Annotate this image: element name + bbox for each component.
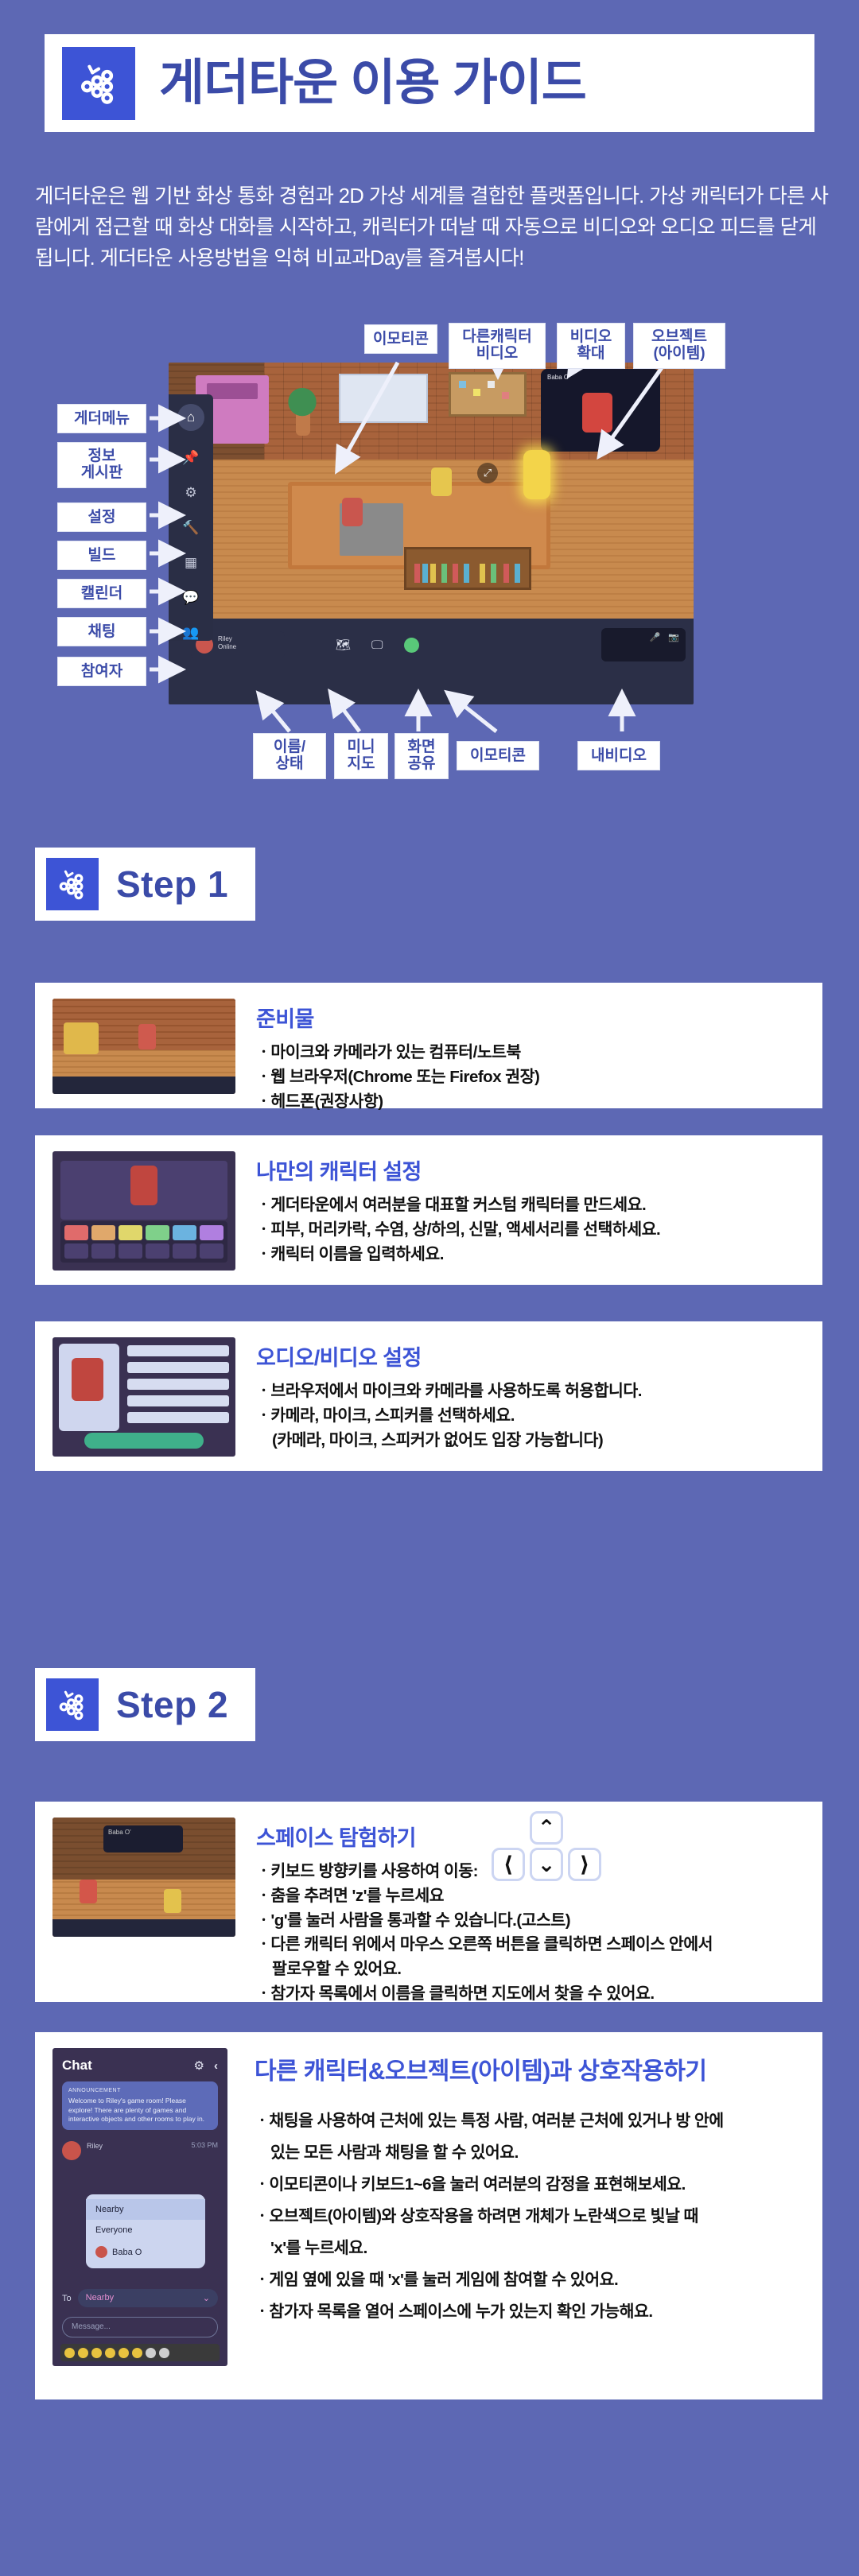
bottom-toolbar: 🗺 🖵 xyxy=(325,631,476,658)
card-audio-video-setup: 오디오/비디오 설정 ㆍ브라우저에서 마이크와 카메라를 사용하도록 허용합니다… xyxy=(35,1321,822,1471)
callout-chat: 채팅 xyxy=(57,617,146,646)
grape-cluster-logo-icon xyxy=(62,47,135,120)
bullet: ㆍ오브젝트(아이템)와 상호작용을 하려면 개체가 노란색으로 빛날 때 xyxy=(255,2201,724,2233)
bullet: 'x'를 누르세요. xyxy=(255,2233,724,2264)
intro-paragraph: 게더타운은 웹 기반 화상 통화 경험과 2D 가상 세계를 결합한 플랫폼입니… xyxy=(35,181,830,274)
card-preparation: 준비물 ㆍ마이크와 카메라가 있는 컴퓨터/노트북 ㆍ웹 브라우저(Chrome… xyxy=(35,983,822,1108)
card-title: 오디오/비디오 설정 xyxy=(256,1340,642,1371)
chat-panel-thumbnail: Chat ⚙ ‹ ANNOUNCEMENT Welcome to Riley's… xyxy=(52,2048,227,2366)
callout-video-expand: 비디오 확대 xyxy=(557,323,625,369)
bookshelf-object xyxy=(404,547,531,590)
other-character xyxy=(431,467,452,496)
dropdown-option-nearby[interactable]: Nearby xyxy=(86,2199,205,2220)
my-name: Riley xyxy=(218,635,232,642)
hero-title-bar: 게더타운 이용 가이드 xyxy=(45,34,814,132)
bullet: ㆍ춤을 추려면 'z'를 누르세요 xyxy=(256,1884,713,1909)
emoticon-icon[interactable] xyxy=(404,638,419,653)
preparation-thumbnail xyxy=(52,999,235,1094)
step-2-badge: Step 2 xyxy=(35,1668,255,1741)
card-title: 다른 캐릭터&오브젝트(아이템)과 상호작용하기 xyxy=(255,2051,724,2086)
bullet: ㆍ피부, 머리카락, 수염, 상/하의, 신말, 액세서리를 선택하세요. xyxy=(256,1218,660,1243)
callout-participants: 참여자 xyxy=(57,657,146,686)
home-icon[interactable]: ⌂ xyxy=(177,404,204,431)
other-player-avatar xyxy=(582,393,612,433)
chat-message: Riley 5:03 PM xyxy=(62,2141,218,2160)
calendar-icon[interactable]: ▦ xyxy=(185,555,197,571)
card-bullets: ㆍ키보드 방향키를 사용하여 이동: ㆍ춤을 추려면 'z'를 누르세요 ㆍ'g… xyxy=(256,1860,713,2007)
card-title: 스페이스 탐험하기 xyxy=(256,1821,713,1852)
bullet: ㆍ채팅을 사용하여 근처에 있는 특정 사람, 여러분 근처에 있거나 방 안에 xyxy=(255,2105,724,2137)
gear-icon[interactable]: ⚙ xyxy=(194,2058,204,2073)
callout-settings: 설정 xyxy=(57,502,146,532)
card-title: 나만의 캐릭터 설정 xyxy=(256,1154,660,1185)
chevron-down-icon: ⌄ xyxy=(203,2293,210,2303)
explore-space-thumbnail: Baba O' xyxy=(52,1818,235,1937)
message-time: 5:03 PM xyxy=(191,2141,218,2149)
callout-emoticon: 이모티콘 xyxy=(364,324,437,354)
card-bullets: ㆍ마이크와 카메라가 있는 컴퓨터/노트북 ㆍ웹 브라우저(Chrome 또는 … xyxy=(256,1041,539,1114)
bullet: ㆍ이모티콘이나 키보드1~6을 눌러 여러분의 감정을 표현해보세요. xyxy=(255,2169,724,2201)
avatar xyxy=(95,2246,107,2258)
callout-my-video: 내비디오 xyxy=(577,741,660,770)
bullet: ㆍ다른 캐릭터 위에서 마우스 오른쪽 버튼을 클릭하면 스페이스 안에서 xyxy=(256,1933,713,1957)
player-character xyxy=(342,498,363,526)
bullet: ㆍ참가자 목록을 열어 스페이스에 누가 있는지 확인 가능해요. xyxy=(255,2296,724,2328)
annotated-screenshot-diagram: Baba O' ⤢ Riley Online 🗺 🖵 🎤 📷 xyxy=(76,324,784,784)
bullet: (카메라, 마이크, 스피커가 없어도 입장 가능합니다) xyxy=(256,1429,642,1453)
callout-calendar: 캘린더 xyxy=(57,579,146,608)
arrow-up-key[interactable]: ⌃ xyxy=(530,1811,563,1845)
highlighted-object-item[interactable] xyxy=(523,450,550,499)
emoji-bar[interactable] xyxy=(60,2344,220,2361)
mic-off-icon[interactable]: 🎤 xyxy=(650,632,661,642)
dropdown-option-everyone[interactable]: Everyone xyxy=(86,2220,205,2240)
bullet: ㆍ게임 옆에 있을 때 'x'를 눌러 게임에 참여할 수 있어요. xyxy=(255,2264,724,2296)
avatar xyxy=(62,2141,81,2160)
announcement-tag: ANNOUNCEMENT xyxy=(68,2087,212,2094)
arrow-right-key[interactable]: ⟩ xyxy=(568,1848,601,1881)
bullet: ㆍ키보드 방향키를 사용하여 이동: xyxy=(256,1860,713,1884)
callout-info-board: 정보 게시판 xyxy=(57,442,146,488)
step-1-label: Step 1 xyxy=(116,863,228,906)
card-explore-space: Baba O' 스페이스 탐험하기 ㆍ키보드 방향키를 사용하여 이동: ㆍ춤을… xyxy=(35,1802,822,2002)
message-input[interactable]: Message... xyxy=(62,2317,218,2337)
gather-sidebar: ⌂ 📌 ⚙ 🔨 ▦ 💬 👥 xyxy=(169,394,213,641)
to-label: To xyxy=(62,2294,72,2303)
callout-mini-map: 미니 지도 xyxy=(334,733,388,779)
whiteboard-object xyxy=(339,374,428,423)
card-bullets: ㆍ브라우저에서 마이크와 카메라를 사용하도록 허용합니다. ㆍ카메라, 마이크… xyxy=(256,1379,642,1453)
card-interact: Chat ⚙ ‹ ANNOUNCEMENT Welcome to Riley's… xyxy=(35,2032,822,2399)
recipient-selector[interactable]: To Nearby ⌄ xyxy=(62,2289,218,2307)
step-2-label: Step 2 xyxy=(116,1683,228,1726)
message-sender: Riley xyxy=(87,2141,103,2151)
grape-cluster-logo-icon xyxy=(46,858,99,910)
other-character-video-tile[interactable]: Baba O' xyxy=(541,369,660,452)
card-bullets: ㆍ게더타운에서 여러분을 대표할 커스텀 캐릭터를 만드세요. ㆍ피부, 머리카… xyxy=(256,1193,660,1267)
other-player-name: Baba O' xyxy=(547,374,570,381)
bullet: ㆍ마이크와 카메라가 있는 컴퓨터/노트북 xyxy=(256,1041,539,1065)
gear-icon[interactable]: ⚙ xyxy=(185,485,196,501)
callout-screen-share: 화면 공유 xyxy=(395,733,449,779)
screen-share-icon[interactable]: 🖵 xyxy=(371,638,383,652)
grape-cluster-logo-icon xyxy=(46,1678,99,1731)
bullet: ㆍ브라우저에서 마이크와 카메라를 사용하도록 허용합니다. xyxy=(256,1379,642,1404)
card-character-setup: 나만의 캐릭터 설정 ㆍ게더타운에서 여러분을 대표할 커스텀 캐릭터를 만드세… xyxy=(35,1135,822,1285)
camera-off-icon[interactable]: 📷 xyxy=(668,632,679,642)
bullet: ㆍ참가자 목록에서 이름을 클릭하면 지도에서 찾을 수 있어요. xyxy=(256,1982,713,2007)
bullet: ㆍ게더타운에서 여러분을 대표할 커스텀 캐릭터를 만드세요. xyxy=(256,1193,660,1218)
callout-emoticon-bottom: 이모티콘 xyxy=(457,741,539,770)
page-title: 게더타운 이용 가이드 xyxy=(159,59,586,108)
callout-name-status: 이름/ 상태 xyxy=(253,733,326,779)
hammer-icon[interactable]: 🔨 xyxy=(182,520,199,536)
video-expand-icon[interactable]: ⤢ xyxy=(477,463,498,483)
audio-video-setup-thumbnail xyxy=(52,1337,235,1457)
step-1-badge: Step 1 xyxy=(35,848,255,921)
dropdown-option-baba[interactable]: Baba O xyxy=(86,2240,205,2264)
arrow-down-key[interactable]: ⌄ xyxy=(530,1848,563,1881)
bullet: ㆍ카메라, 마이크, 스피커를 선택하세요. xyxy=(256,1404,642,1429)
guide-page: 게더타운 이용 가이드 게더타운은 웹 기반 화상 통화 경험과 2D 가상 세… xyxy=(0,0,859,2576)
chat-header: Chat ⚙ ‹ xyxy=(62,2058,218,2074)
announcement-text: Welcome to Riley's game room! Please exp… xyxy=(68,2097,204,2123)
recipient-dropdown[interactable]: Nearby Everyone Baba O xyxy=(86,2194,205,2268)
bullet: ㆍ헤드폰(권장사항) xyxy=(256,1090,539,1115)
announcement-message: ANNOUNCEMENT Welcome to Riley's game roo… xyxy=(62,2081,218,2130)
chevron-left-icon[interactable]: ‹ xyxy=(214,2059,218,2073)
gather-town-screenshot: Baba O' ⤢ Riley Online 🗺 🖵 🎤 📷 xyxy=(169,363,694,704)
bullet: 팔로우할 수 있어요. xyxy=(256,1957,713,1982)
people-icon[interactable]: 👥 xyxy=(182,625,199,641)
character-setup-thumbnail xyxy=(52,1151,235,1271)
bullet: ㆍ'g'를 눌러 사람을 통과할 수 있습니다.(고스트) xyxy=(256,1909,713,1934)
callout-gather-menu: 게더메뉴 xyxy=(57,404,146,433)
chat-bubble-icon[interactable]: 💬 xyxy=(182,590,199,606)
my-video-widget[interactable]: 🎤 📷 xyxy=(601,628,686,661)
chat-title: Chat xyxy=(62,2058,92,2074)
to-value-pill[interactable]: Nearby ⌄ xyxy=(78,2289,218,2307)
bullet: 있는 모든 사람과 채팅을 할 수 있어요. xyxy=(255,2137,724,2169)
pin-icon[interactable]: 📌 xyxy=(182,450,199,466)
arrow-left-key[interactable]: ⟨ xyxy=(492,1848,525,1881)
arrow-keys-widget: ⌃ ⟨ ⌄ ⟩ xyxy=(488,1811,608,1887)
callout-other-character-video: 다른캐릭터 비디오 xyxy=(449,323,546,369)
bullet: ㆍ캐릭터 이름을 입력하세요. xyxy=(256,1243,660,1267)
corkboard-object xyxy=(449,372,527,417)
my-status: Online xyxy=(218,643,236,650)
bullet: ㆍ웹 브라우저(Chrome 또는 Firefox 권장) xyxy=(256,1065,539,1090)
mini-map-icon[interactable]: 🗺 xyxy=(336,638,351,652)
card-bullets: ㆍ채팅을 사용하여 근처에 있는 특정 사람, 여러분 근처에 있거나 방 안에… xyxy=(255,2105,724,2328)
callout-object-item: 오브젝트 (아이템) xyxy=(633,323,725,369)
callout-build: 빌드 xyxy=(57,541,146,570)
card-title: 준비물 xyxy=(256,1002,539,1033)
plant-decor xyxy=(286,380,318,439)
